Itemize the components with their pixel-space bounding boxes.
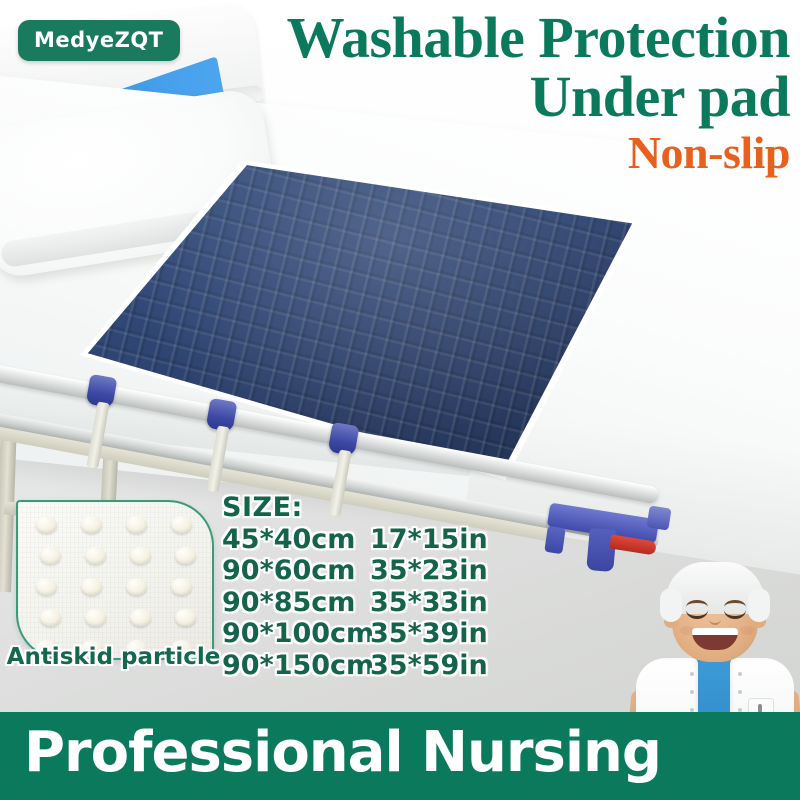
headline-line-2: Under pad: [190, 69, 790, 126]
brand-logo[interactable]: MedyeZQT: [18, 20, 180, 61]
antiskid-dot: [130, 609, 151, 626]
bottom-banner: Professional Nursing: [0, 712, 800, 800]
size-row: 90*100cm 35*39in: [222, 618, 490, 650]
headline-line-3: Non-slip: [190, 130, 790, 175]
antiskid-dot: [130, 547, 151, 564]
antiskid-dot: [85, 547, 106, 564]
man-eyebrow-right: [724, 600, 746, 607]
size-in: 35*39in: [370, 618, 490, 650]
size-row: 90*150cm 35*59in: [222, 650, 490, 682]
size-in: 35*33in: [370, 587, 490, 619]
antiskid-dot: [36, 516, 57, 533]
antiskid-dot: [40, 547, 61, 564]
banner-title: Professional Nursing: [24, 720, 661, 785]
antiskid-dot: [36, 578, 57, 595]
antiskid-particle-label: Antiskid particle: [6, 644, 221, 670]
size-cm: 90*100cm: [222, 618, 370, 650]
antiskid-dot: [81, 516, 102, 533]
rail-end-cap: [646, 505, 671, 530]
antiskid-dot: [171, 578, 192, 595]
headline-line-1: Washable Protection: [190, 10, 790, 67]
page-title: Washable Protection Under pad Non-slip: [190, 10, 790, 175]
antiskid-particle-swatch-icon: [16, 500, 214, 660]
size-in: 17*15in: [370, 524, 490, 556]
size-row: 45*40cm 17*15in: [222, 524, 490, 556]
lever-foot: [544, 526, 565, 554]
size-cm: 90*60cm: [222, 555, 370, 587]
antiskid-dot: [81, 578, 102, 595]
antiskid-dot: [85, 609, 106, 626]
size-cm: 90*150cm: [222, 650, 370, 682]
man-teeth: [692, 628, 738, 635]
size-cm: 45*40cm: [222, 524, 370, 556]
size-in: 35*23in: [370, 555, 490, 587]
size-cm: 90*85cm: [222, 587, 370, 619]
size-row: 90*60cm 35*23in: [222, 555, 490, 587]
antiskid-dot: [126, 578, 147, 595]
antiskid-dot: [40, 609, 61, 626]
size-in: 35*59in: [370, 650, 490, 682]
antiskid-dot: [175, 547, 196, 564]
size-list: SIZE: 45*40cm 17*15in 90*60cm 35*23in 90…: [222, 492, 490, 681]
man-cheek-right: [740, 626, 754, 635]
size-row: 90*85cm 35*33in: [222, 587, 490, 619]
antiskid-dot: [175, 609, 196, 626]
antiskid-dot-grid: [18, 502, 212, 658]
size-list-title: SIZE:: [222, 492, 490, 524]
antiskid-dot: [126, 516, 147, 533]
man-eyebrow-left: [686, 600, 708, 607]
man-white-hair: [666, 562, 764, 614]
antiskid-dot: [171, 516, 192, 533]
